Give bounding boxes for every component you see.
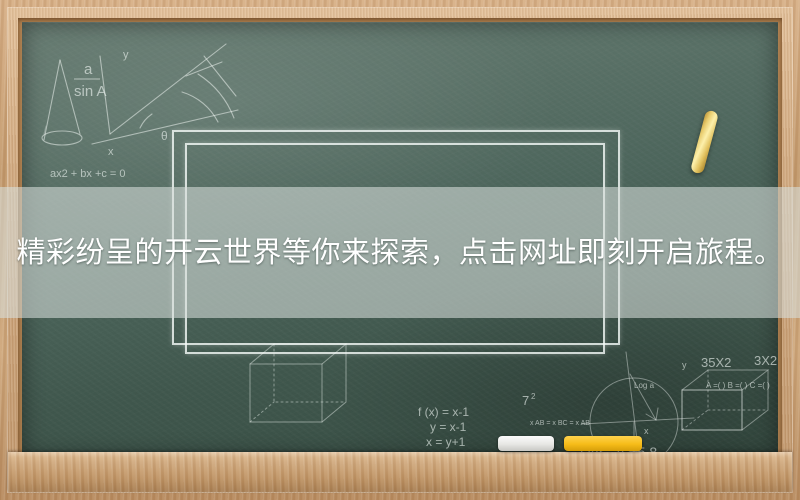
chalk-note: x xyxy=(644,426,649,436)
chalk-note: A =( ) B =( ) C =( ) xyxy=(706,381,770,390)
chalk-note: x AB = x BC = x AB xyxy=(530,420,590,427)
chalkboard-scene: asin Ayxθax2 + bx +c = 0f (x) = x-1y = x… xyxy=(0,0,800,500)
chalk-note: 2 xyxy=(531,392,536,401)
chalk-note: Log a xyxy=(634,381,655,390)
chalk-note: θ xyxy=(161,129,168,143)
chalk-note: ax2 + bx +c = 0 xyxy=(50,168,126,180)
yellow-chalk-icon xyxy=(564,436,642,451)
chalk-note: 35X2 xyxy=(701,355,731,370)
chalk-note: f (x) = x-1 xyxy=(418,405,469,419)
chalk-note: 7 xyxy=(522,393,529,408)
chalk-note: 3X2 xyxy=(754,353,777,368)
chalk-note: a xyxy=(84,61,93,78)
chalk-ledge-shelf xyxy=(8,452,792,492)
promo-banner: 精彩纷呈的开云世界等你来探索，点击网址即刻开启旅程。 xyxy=(0,187,800,318)
chalk-note: sin A xyxy=(74,83,107,100)
banner-text: 精彩纷呈的开云世界等你来探索，点击网址即刻开启旅程。 xyxy=(0,235,800,270)
chalk-note: x = y+1 xyxy=(426,435,466,449)
chalk-note: x xyxy=(108,146,114,158)
chalk-note: y xyxy=(682,360,687,370)
chalk-note: y = x-1 xyxy=(430,420,467,434)
chalk-note: y xyxy=(123,49,129,61)
eraser-icon xyxy=(498,436,554,451)
